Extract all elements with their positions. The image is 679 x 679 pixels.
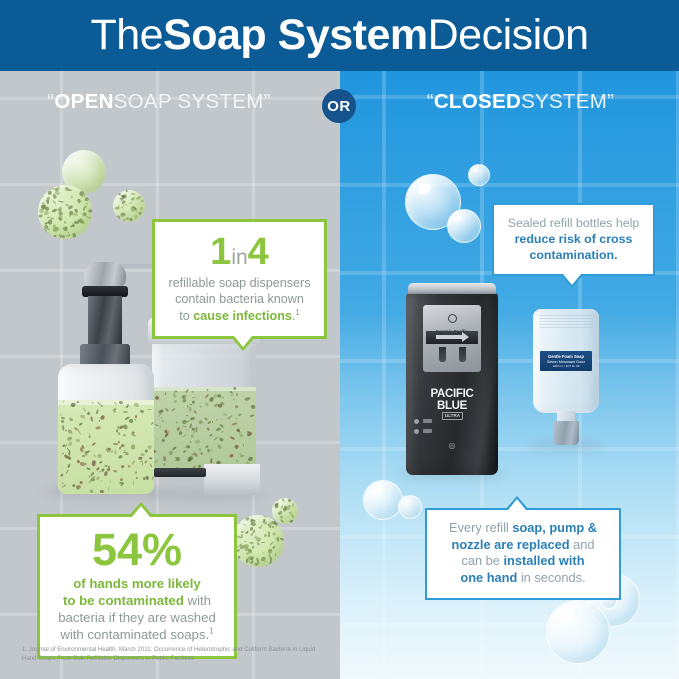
- callout-body-text: refillable soap dispensers contain bacte…: [164, 275, 315, 324]
- refill-bottle-pump-cap: [553, 421, 579, 445]
- pacific-blue-brand-label: PACIFIC BLUE ULTRA: [406, 389, 498, 428]
- callout-every-refill: Every refill soap, pump & nozzle are rep…: [425, 508, 621, 600]
- soap-bubble-decor: [398, 495, 422, 519]
- gp-logo-mark: [448, 314, 457, 323]
- status-indicator-group: [414, 419, 419, 439]
- open-pump-bottle-dispenser: [52, 262, 162, 494]
- soap-bubble-decor: [363, 480, 403, 520]
- contaminated-soap-fill: [58, 400, 154, 494]
- footnote-marker: 1: [209, 627, 214, 636]
- footnote-marker: 1: [295, 308, 299, 317]
- pacific-blue-closed-dispenser: Georgia-Pacific PACIFIC BLUE ULTRA ◎: [406, 283, 498, 475]
- stat-one-in-four: 1in4: [164, 233, 315, 271]
- infographic-poster: Georgia-Pacific PACIFIC BLUE ULTRA ◎: [0, 0, 679, 679]
- pump-neck: [88, 296, 122, 345]
- soap-bubble-decor: [546, 600, 610, 664]
- germ-bubble-decor: [232, 515, 284, 567]
- germ-bubble-decor: [113, 190, 145, 222]
- or-divider-badge: OR: [322, 89, 356, 123]
- pump-bottle: [58, 364, 154, 494]
- arrow-icon: [436, 335, 462, 339]
- dispenser-window: Georgia-Pacific: [423, 305, 481, 372]
- refill-bottle-body: Gentle Foam Soap Savon Moussant Doux 120…: [533, 309, 599, 413]
- dispenser-top-cap: [408, 283, 496, 294]
- callout-body-text: Every refill soap, pump & nozzle are rep…: [435, 520, 611, 587]
- stat-fifty-four-percent: 54%: [48, 527, 226, 572]
- ultra-badge: ULTRA: [442, 412, 462, 420]
- pump-head: [84, 262, 126, 288]
- nozzle-group: [423, 347, 481, 369]
- status-label-bar: [423, 429, 432, 433]
- box-dispenser-reservoir: [152, 343, 256, 474]
- contaminated-soap-fill: [152, 387, 256, 474]
- callout-tail: [230, 336, 256, 351]
- footnote-citation: 1. Journal of Environmental Health, Marc…: [22, 645, 322, 664]
- nozzle-icon: [439, 347, 446, 362]
- callout-body-text: of hands more likely to be contaminated …: [48, 575, 226, 644]
- pump-base: [80, 344, 130, 366]
- status-led-icon: [414, 429, 419, 434]
- callout-tail: [505, 496, 529, 510]
- cartridge-slot: [426, 331, 478, 344]
- callout-one-in-four: 1in4 refillable soap dispensers contain …: [152, 219, 327, 339]
- box-dispenser-base: [204, 464, 260, 495]
- callout-body-text: Sealed refill bottles help reduce risk o…: [502, 215, 645, 263]
- refill-bottle-label: Gentle Foam Soap Savon Moussant Doux 120…: [540, 351, 592, 371]
- status-led-icon: [414, 419, 419, 424]
- status-label-bar: [423, 419, 432, 423]
- soap-bubble-decor: [468, 164, 490, 186]
- header-bar: The Soap System Decision: [0, 0, 679, 71]
- page-title: The Soap System Decision: [0, 0, 679, 71]
- soap-bubble-decor: [447, 209, 481, 243]
- callout-fifty-four-percent: 54% of hands more likely to be contamina…: [37, 514, 237, 659]
- touchless-sensor-icon: ◎: [406, 441, 498, 450]
- callout-tail: [560, 274, 584, 288]
- callout-sealed-refill: Sealed refill bottles help reduce risk o…: [492, 203, 655, 276]
- sealed-refill-bottle: Gentle Foam Soap Savon Moussant Doux 120…: [533, 309, 599, 445]
- nozzle-icon: [459, 347, 466, 362]
- callout-tail: [128, 502, 154, 517]
- germ-bubble-decor: [38, 185, 92, 239]
- germ-bubble-decor: [272, 498, 298, 524]
